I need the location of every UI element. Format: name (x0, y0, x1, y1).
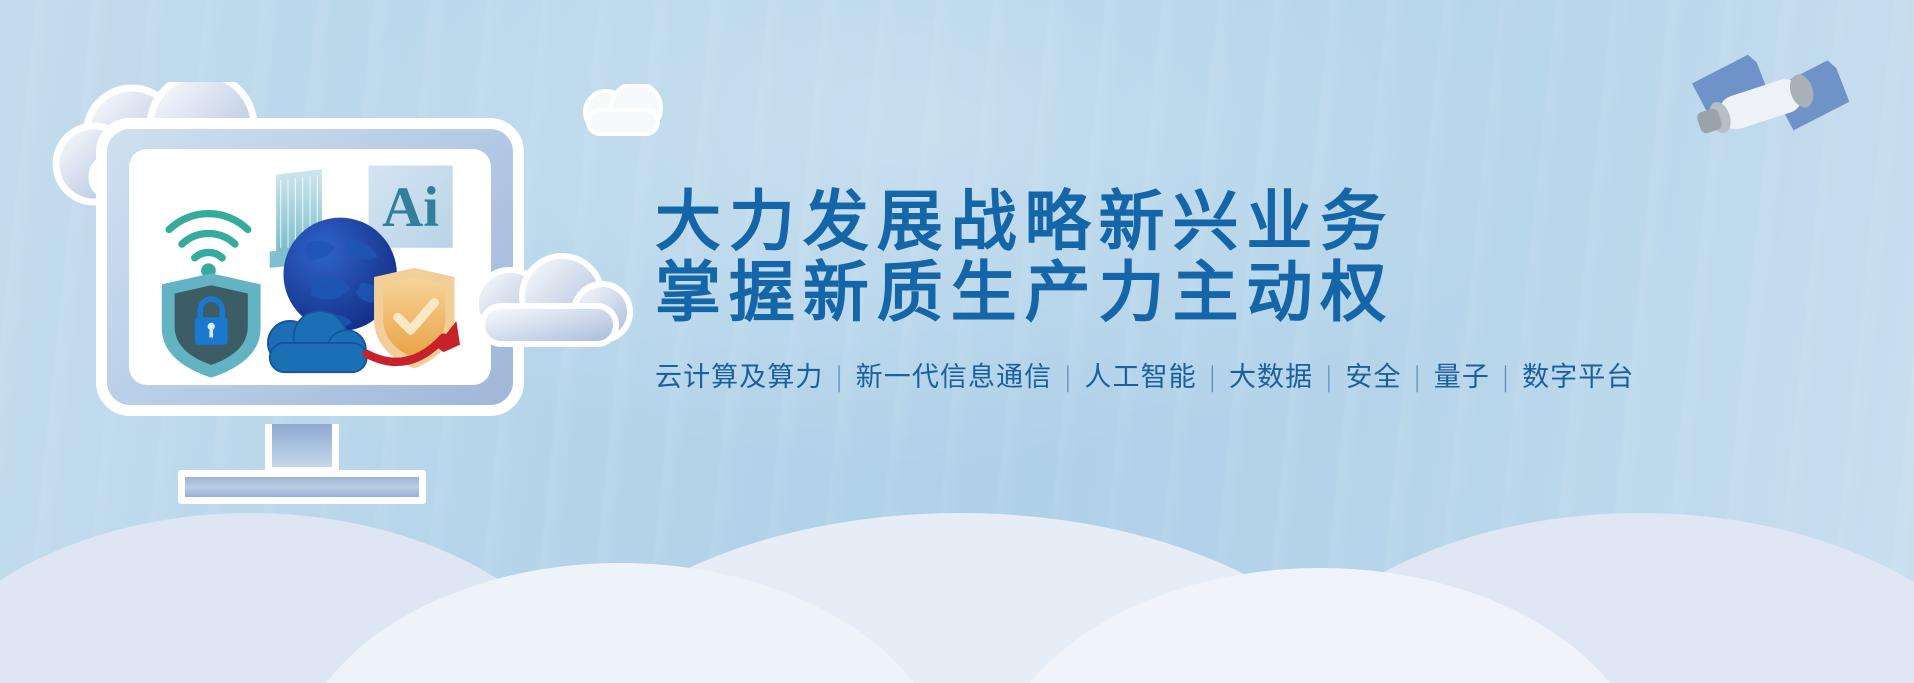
subtitle-tag: 数字平台 (1522, 362, 1634, 393)
subtitle-separator: | (1313, 362, 1345, 393)
subtitle-separator: | (823, 362, 855, 393)
banner-root: Ai (0, 0, 1914, 683)
headline-line-1: 大力发展战略新兴业务 (655, 186, 1865, 257)
subtitle-separator: | (1490, 362, 1522, 393)
subtitle-separator: | (1402, 362, 1434, 393)
screen-icon-group: Ai (129, 149, 491, 385)
text-block: 大力发展战略新兴业务 掌握新质生产力主动权 云计算及算力|新一代信息通信|人工智… (655, 186, 1865, 394)
subtitle-tag-list: 云计算及算力|新一代信息通信|人工智能|大数据|安全|量子|数字平台 (655, 355, 1865, 394)
subtitle-separator: | (1197, 362, 1229, 393)
subtitle-tag: 云计算及算力 (655, 362, 823, 393)
cloud-mid-right-icon (452, 250, 642, 360)
subtitle-separator: | (1052, 362, 1084, 393)
lock-shield-icon (162, 273, 261, 377)
monitor-base (178, 470, 426, 504)
check-shield-icon (374, 268, 454, 369)
subtitle-tag: 人工智能 (1084, 362, 1196, 393)
subtitle-tag: 新一代信息通信 (856, 362, 1053, 393)
svg-text:Ai: Ai (382, 176, 439, 239)
wifi-icon (169, 214, 248, 258)
monitor-neck (265, 424, 339, 474)
subtitle-tag: 大数据 (1229, 362, 1313, 393)
subtitle-tag: 量子 (1434, 362, 1490, 393)
headline-line-2: 掌握新质生产力主动权 (655, 257, 1865, 328)
monitor-screen: Ai (129, 149, 491, 385)
satellite-icon (1670, 32, 1870, 162)
cloud-small-top-icon (566, 84, 676, 144)
subtitle-tag: 安全 (1345, 362, 1401, 393)
